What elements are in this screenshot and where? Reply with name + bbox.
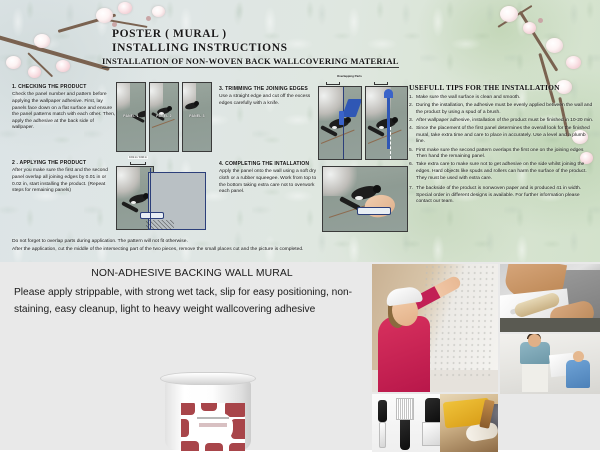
step-3-title: 3. TRIMMING THE JOINING EDGES	[219, 86, 319, 92]
boy-shirt	[566, 360, 590, 388]
tip-text: Make sure the wall surface is clean and …	[416, 95, 520, 100]
step-2-body: After you make sure the first and the se…	[12, 168, 116, 194]
bud-decoration	[538, 18, 543, 23]
panel-edge-line	[150, 168, 151, 230]
measurement-bar	[130, 162, 146, 165]
photo-paste-tray-and-tools	[440, 394, 498, 452]
measurement-label: 0.01 in / 0.02 in	[128, 156, 148, 159]
step-3-body: Use a straight edge and cut off the exce…	[219, 94, 319, 107]
blossom-decoration	[152, 6, 165, 17]
overlap-cut-line	[390, 127, 391, 159]
man-head	[528, 334, 541, 347]
tip-text: After wallpaper adhesive, installation o…	[416, 118, 593, 123]
work-bench	[500, 318, 600, 332]
blossom-decoration	[118, 2, 132, 14]
overlap-parts-label: Overlapping Parts	[337, 74, 362, 78]
woman-torso	[378, 316, 430, 392]
blossom-decoration	[6, 56, 21, 69]
knife-handle-icon	[339, 111, 344, 125]
blossom-decoration	[523, 22, 536, 34]
tip-text: The backside of the product is nonwoven …	[416, 186, 581, 204]
diagram-panels-layout: PANEL 1 PANEL 2 PANEL 3	[116, 76, 216, 160]
footnotes-block: Do not forget to overlap parts during ap…	[12, 238, 532, 254]
step-2-block: 2 . APPLYING THE PRODUCT After you make …	[12, 160, 116, 195]
panel-3-illustration: PANEL 3	[182, 82, 212, 152]
overlap-panel-left	[318, 86, 362, 160]
tip-text: Take extra care to make sure not to get …	[416, 162, 587, 180]
tip-item: 6.Take extra care to make sure not to ge…	[409, 162, 595, 182]
tip-text: During the installation, the adhesive mu…	[416, 103, 592, 115]
promo-body: Please apply strippable, with strong wet…	[14, 284, 370, 318]
overlap-measure-bar-right	[374, 82, 388, 85]
blossom-decoration	[546, 38, 563, 53]
blossom-motif	[116, 82, 130, 114]
overlap-measure-bar-left	[326, 82, 340, 85]
blossom-decoration	[500, 6, 518, 22]
photo-collage	[372, 264, 600, 450]
promo-title: NON-ADHESIVE BACKING WALL MURAL	[14, 268, 370, 279]
step-4-block: 4. COMPLETING THE INTALLATION Apply the …	[219, 161, 323, 196]
tip-item: 7.The backside of the product is nonwove…	[409, 186, 595, 206]
blossom-decoration	[34, 34, 50, 48]
bud-decoration	[146, 16, 151, 21]
bud-decoration	[112, 22, 117, 27]
footnote-line-1: Do not forget to overlap parts during ap…	[12, 238, 532, 246]
blossom-decoration	[28, 66, 41, 78]
label-pattern-blob	[231, 419, 245, 439]
blossom-decoration	[96, 8, 113, 23]
label-text-band	[199, 423, 227, 427]
diagram-applying-panel	[116, 166, 216, 232]
installation-tips-panel: USEFULL TIPS FOR THE INSTALLATION 1.Make…	[409, 83, 595, 207]
footnote-line-2: After the application, cut the middle of…	[12, 246, 532, 254]
tip-number: 2.	[409, 103, 413, 110]
knife-blade-icon	[342, 99, 362, 117]
overlap-panel-right	[365, 86, 408, 160]
tip-number: 7.	[409, 186, 413, 193]
man-trousers	[522, 360, 548, 392]
label-pattern-blob	[181, 419, 189, 437]
photo-woman-applying-wallpaper	[372, 264, 498, 392]
photo-hands-with-roller	[500, 264, 600, 332]
wallpaper-background-region: PANEL 1 PANEL 2 PANEL 3 0.01 in / 0.02 i…	[0, 0, 600, 262]
panel-label: PANEL 3	[189, 114, 204, 118]
tip-number: 4.	[409, 126, 413, 133]
tip-item: 3.After wallpaper adhesive, installation…	[409, 118, 595, 125]
step-1-block: 1. CHECKING THE PRODUCT Check the panel …	[12, 84, 116, 132]
diagram-completing-installation	[322, 166, 408, 232]
ruler-top-icon	[384, 89, 393, 98]
panel-2-illustration: PANEL 2	[149, 82, 179, 152]
step-4-title: 4. COMPLETING THE INTALLATION	[219, 161, 323, 167]
seam-roller-tool	[376, 400, 388, 450]
label-center-oval	[193, 411, 233, 443]
tip-number: 5.	[409, 148, 413, 155]
bucket-lid	[160, 372, 256, 385]
page-subtitle: INSTALLATION OF NON-WOVEN BACK WALLCOVER…	[102, 56, 399, 68]
photo-man-and-boy-hanging-wallpaper	[500, 334, 600, 394]
squeegee-tool	[357, 207, 391, 215]
tip-text: Since the placement of the first panel d…	[416, 126, 590, 144]
smoothing-brush-tool	[396, 398, 414, 452]
tip-number: 1.	[409, 95, 413, 102]
title-line-1: POSTER ( MURAL )	[112, 28, 288, 42]
tip-item: 4.Since the placement of the first panel…	[409, 126, 595, 146]
tips-list: 1.Make sure the wall surface is clean an…	[409, 95, 595, 206]
tips-title: USEFULL TIPS FOR THE INSTALLATION	[409, 83, 595, 92]
bucket-label	[181, 403, 245, 451]
tip-item: 5.First make sure the second pattern ove…	[409, 148, 595, 161]
boy-head	[573, 351, 584, 362]
blossom-decoration	[566, 56, 581, 69]
title-line-2: INSTALLING INSTRUCTIONS	[112, 42, 288, 56]
tip-number: 6.	[409, 162, 413, 169]
label-text-line	[197, 417, 229, 419]
step-1-body: Check the panel number and pattern befor…	[12, 92, 116, 132]
tip-number: 3.	[409, 118, 413, 125]
blossom-decoration	[56, 60, 70, 72]
label-pattern-blob	[201, 403, 217, 411]
step-3-block: 3. TRIMMING THE JOINING EDGES Use a stra…	[219, 86, 319, 108]
tip-text: First make sure the second pattern overl…	[416, 148, 583, 160]
label-pattern-blob	[181, 403, 195, 415]
bucket-body	[165, 381, 251, 450]
final-panel-illustration	[322, 166, 408, 232]
promo-text-block: NON-ADHESIVE BACKING WALL MURAL Please a…	[14, 268, 370, 318]
step-4-body: Apply the panel onto the wall using a so…	[219, 169, 323, 195]
tip-item: 1.Make sure the wall surface is clean an…	[409, 95, 595, 102]
squeegee-tool	[140, 212, 164, 219]
blossom-motif	[322, 166, 357, 196]
panel-label: PANEL 1	[123, 114, 138, 118]
step-1-title: 1. CHECKING THE PRODUCT	[12, 84, 116, 90]
step-2-title: 2 . APPLYING THE PRODUCT	[12, 160, 116, 166]
tip-item: 2.During the installation, the adhesive …	[409, 103, 595, 116]
diagram-overlapping-parts	[318, 86, 408, 160]
panel-label: PANEL 2	[156, 114, 171, 118]
right-photo-column	[500, 264, 600, 392]
page-title: POSTER ( MURAL ) INSTALLING INSTRUCTIONS	[112, 28, 288, 55]
adhesive-bucket-image	[160, 372, 256, 450]
panel-1-illustration: PANEL 1	[116, 82, 146, 152]
